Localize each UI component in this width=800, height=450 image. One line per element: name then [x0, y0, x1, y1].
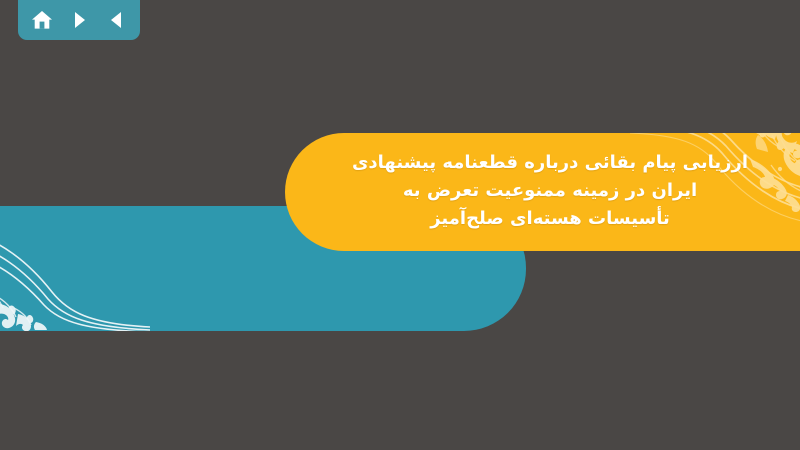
forward-arrow-icon: [71, 11, 88, 29]
title-line-2: ایران در زمینه ممنوعیت تعرض به: [403, 177, 697, 205]
home-icon: [31, 10, 53, 30]
slide-title: ارزیابی پیام بقائی درباره قطعنامه پیشنها…: [285, 133, 800, 251]
title-line-1: ارزیابی پیام بقائی درباره قطعنامه پیشنها…: [352, 149, 748, 177]
navigation-bar: [18, 0, 140, 40]
forward-button[interactable]: [65, 7, 93, 33]
back-arrow-icon: [108, 11, 125, 29]
home-button[interactable]: [28, 7, 56, 33]
slide-canvas: ارزیابی پیام بقائی درباره قطعنامه پیشنها…: [0, 0, 800, 450]
back-button[interactable]: [102, 7, 130, 33]
title-line-3: تأسیسات هسته‌ای صلح‌آمیز: [430, 205, 670, 233]
arabesque-corner-ornament: [0, 206, 150, 331]
